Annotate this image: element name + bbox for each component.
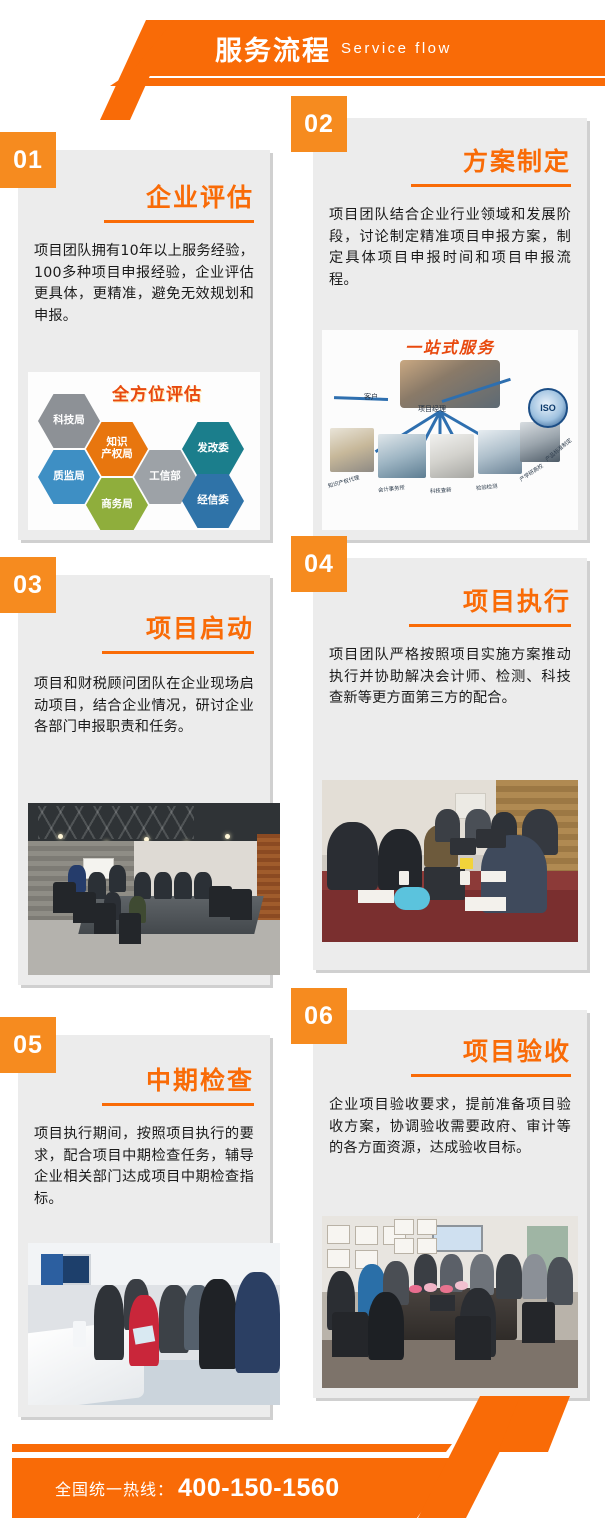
iso-seal-icon: ISO xyxy=(528,388,568,428)
hotline-label: 全国统一热线： xyxy=(55,1476,174,1500)
step-card-01[interactable]: 01 企业评估 项目团队拥有10年以上服务经验，100多种项目申报经验，企业评估… xyxy=(18,150,270,540)
step-number-badge: 06 xyxy=(291,988,347,1044)
hub-label: 项目经理 xyxy=(418,404,446,414)
hotline-number[interactable]: 400-150-1560 xyxy=(178,1474,340,1503)
photo-working-table xyxy=(322,780,578,942)
hex-node-zhijian: 质监局 xyxy=(38,450,100,504)
step-number-badge: 01 xyxy=(0,132,56,188)
node-image-tech-search xyxy=(430,434,474,478)
step-number-badge: 05 xyxy=(0,1017,56,1073)
hex-label: 质监局 xyxy=(53,471,85,483)
step-description: 项目执行期间，按照项目执行的要求，配合项目中期检查任务，辅导企业相关部门达成项目… xyxy=(34,1124,254,1210)
step-title: 项目启动 xyxy=(34,609,254,645)
hex-node-shangwu: 商务局 xyxy=(86,478,148,530)
hub-image xyxy=(400,360,500,408)
step-title: 企业评估 xyxy=(34,178,254,214)
step-card-02[interactable]: 02 方案制定 项目团队结合企业行业领域和发展阶段，讨论制定精准项目申报方案，制… xyxy=(313,118,587,540)
hex-label: 科技局 xyxy=(53,415,85,427)
step-card-05[interactable]: 05 中期检查 项目执行期间，按照项目执行的要求，配合项目中期检查任务，辅导企业… xyxy=(18,1035,270,1417)
step-card-03[interactable]: 03 项目启动 项目和财税顾问团队在企业现场启动项目，结合企业情况，研讨企业各部… xyxy=(18,575,270,985)
photo-meeting-room xyxy=(28,803,280,975)
step-description: 项目团队结合企业行业领域和发展阶段，讨论制定精准项目申报方案，制定具体项目申报时… xyxy=(329,205,571,291)
flow-arrow xyxy=(334,396,388,401)
step-title: 方案制定 xyxy=(329,142,571,178)
step-title: 项目执行 xyxy=(329,582,571,618)
photo-site-tour xyxy=(28,1243,280,1405)
hex-label: 工信部 xyxy=(149,471,181,483)
step-description: 项目团队拥有10年以上服务经验，100多种项目申报经验，企业评估更具体，更精准，… xyxy=(34,241,254,327)
page-subtitle: Service flow xyxy=(341,40,452,57)
hex-label: 发改委 xyxy=(197,443,229,455)
step-number-badge: 04 xyxy=(291,536,347,592)
photo-boardroom xyxy=(322,1216,578,1388)
figure-title: 一站式服务 xyxy=(322,334,578,358)
step-card-04[interactable]: 04 项目执行 项目团队严格按照项目实施方案推动执行并协助解决会计师、检测、科技… xyxy=(313,558,587,970)
step-description: 项目团队严格按照项目实施方案推动执行并协助解决会计师、检测、科技查新等更方面第三… xyxy=(329,645,571,710)
hex-label: 商务局 xyxy=(101,499,133,511)
footer-wedge-decoration xyxy=(418,1396,605,1518)
hex-node-zscq: 知识 产权局 xyxy=(86,422,148,476)
title-underline xyxy=(409,624,571,627)
hex-node-keji: 科技局 xyxy=(38,394,100,448)
node-image-ip-agency xyxy=(330,428,374,472)
step-title: 中期检查 xyxy=(34,1061,254,1097)
header-title-group: 服务流程 Service flow xyxy=(215,24,605,72)
step-number-badge: 03 xyxy=(0,557,56,613)
figure-title: 全方位评估 xyxy=(112,380,202,405)
step-description: 项目和财税顾问团队在企业现场启动项目，结合企业情况，研讨企业各部门申报职责和任务… xyxy=(34,674,254,739)
page-footer: 全国统一热线： 400-150-1560 xyxy=(0,1400,605,1538)
header-underline-band xyxy=(110,78,605,86)
hexagon-assessment-figure: 全方位评估 科技局 知识 产权局 质监局 商务局 工信部 发改委 经信委 xyxy=(28,372,260,530)
seal-label: ISO xyxy=(540,403,556,413)
page-title: 服务流程 xyxy=(215,29,331,68)
node-image-accounting xyxy=(378,434,426,478)
title-underline xyxy=(104,220,254,223)
title-underline xyxy=(411,1074,571,1077)
hex-node-fagai: 发改委 xyxy=(182,422,244,476)
step-number-badge: 02 xyxy=(291,96,347,152)
title-underline xyxy=(411,184,571,187)
node-label: 科技查新 xyxy=(430,486,452,495)
node-label: 检验检测 xyxy=(476,482,498,492)
hex-label: 经信委 xyxy=(197,495,229,507)
hex-label: 知识 产权局 xyxy=(101,437,133,460)
hotline-group: 全国统一热线： 400-150-1560 xyxy=(55,1458,340,1518)
node-label: 会计事务所 xyxy=(378,483,406,494)
step-description: 企业项目验收要求，提前准备项目验收方案，协调验收需要政府、审计等的各方面资源，达… xyxy=(329,1095,571,1160)
client-label: 客户 xyxy=(364,392,378,402)
title-underline xyxy=(102,651,254,654)
node-label: 知识产权代理 xyxy=(327,473,360,490)
step-title: 项目验收 xyxy=(329,1032,571,1068)
one-stop-service-figure: 一站式服务 客户 项目经理 ISO 知识产权代理 会计事务所 科技查新 检验检测… xyxy=(322,330,578,530)
step-card-06[interactable]: 06 项目验收 企业项目验收要求，提前准备项目验收方案，协调验收需要政府、审计等… xyxy=(313,1010,587,1398)
node-image-testing xyxy=(478,430,522,474)
title-underline xyxy=(102,1103,254,1106)
